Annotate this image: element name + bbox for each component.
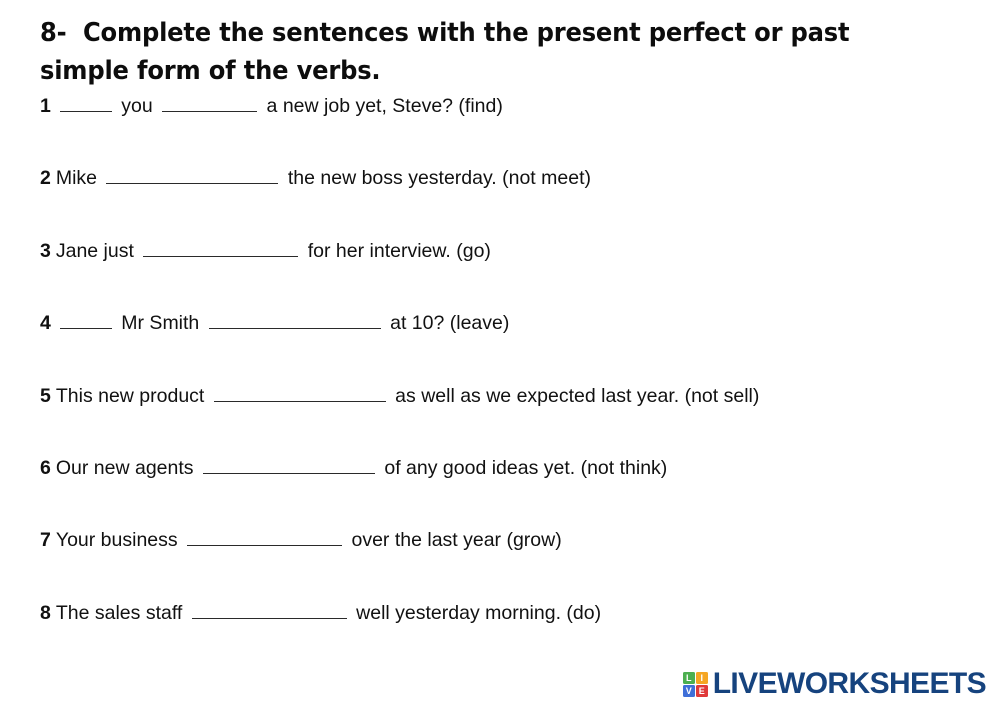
answer-blank[interactable] — [143, 239, 298, 257]
logo-wordmark: LIVEWORKSHEETS — [713, 669, 986, 699]
exercise-text: at 10? (leave) — [385, 312, 510, 334]
exercise-text: for her interview. (go) — [302, 240, 491, 262]
exercise-text: The sales staff — [56, 602, 188, 624]
exercise-item: 4 Mr Smith at 10? (leave) — [40, 309, 980, 381]
answer-blank[interactable] — [162, 94, 257, 112]
exercise-text: of any good ideas yet. (not think) — [379, 457, 667, 479]
exercise-number: 1 — [40, 95, 51, 117]
logo-tile-v-icon: V — [683, 685, 695, 697]
exercise-number: 3 — [40, 240, 51, 262]
exercise-text: Jane just — [56, 240, 139, 262]
answer-blank[interactable] — [214, 384, 386, 402]
answer-blank[interactable] — [209, 311, 381, 329]
exercise-text: Your business — [56, 529, 183, 551]
exercise-number: 5 — [40, 385, 51, 407]
exercise-text: Our new agents — [56, 457, 199, 479]
exercise-text: a new job yet, Steve? (find) — [261, 95, 503, 117]
exercise-item: 3Jane just for her interview. (go) — [40, 237, 980, 309]
exercise-item: 7Your business over the last year (grow) — [40, 526, 980, 598]
exercise-item: 8The sales staff well yesterday morning.… — [40, 599, 980, 671]
worksheet-title: 8- Complete the sentences with the prese… — [40, 14, 896, 90]
answer-blank[interactable] — [203, 456, 375, 474]
exercise-text: over the last year (grow) — [346, 529, 562, 551]
answer-blank[interactable] — [187, 528, 342, 546]
exercise-item: 2Mike the new boss yesterday. (not meet) — [40, 164, 980, 236]
answer-blank[interactable] — [60, 94, 112, 112]
exercise-text: well yesterday morning. (do) — [351, 602, 601, 624]
exercise-text: the new boss yesterday. (not meet) — [282, 167, 591, 189]
exercise-number: 6 — [40, 457, 51, 479]
worksheet-page: 8- Complete the sentences with the prese… — [0, 0, 1000, 707]
exercise-item: 6Our new agents of any good ideas yet. (… — [40, 454, 980, 526]
exercise-item: 5This new product as well as we expected… — [40, 382, 980, 454]
logo-tile-i-icon: I — [696, 672, 708, 684]
exercise-number: 2 — [40, 167, 51, 189]
answer-blank[interactable] — [106, 166, 278, 184]
exercise-text: you — [116, 95, 158, 117]
exercise-item: 1 you a new job yet, Steve? (find) — [40, 92, 980, 164]
exercise-text: Mike — [56, 167, 103, 189]
logo-tile-l-icon: L — [683, 672, 695, 684]
exercise-text: Mr Smith — [116, 312, 205, 334]
exercise-number: 8 — [40, 602, 51, 624]
exercise-text: This new product — [56, 385, 210, 407]
exercise-list: 1 you a new job yet, Steve? (find)2Mike … — [40, 92, 980, 671]
exercise-text: as well as we expected last year. (not s… — [390, 385, 760, 407]
logo-tile-e-icon: E — [696, 685, 708, 697]
answer-blank[interactable] — [60, 311, 112, 329]
exercise-number: 4 — [40, 312, 51, 334]
liveworksheets-logo: LIVE LIVEWORKSHEETS — [683, 669, 986, 699]
answer-blank[interactable] — [192, 601, 347, 619]
exercise-number: 7 — [40, 529, 51, 551]
logo-tiles: LIVE — [683, 672, 708, 697]
